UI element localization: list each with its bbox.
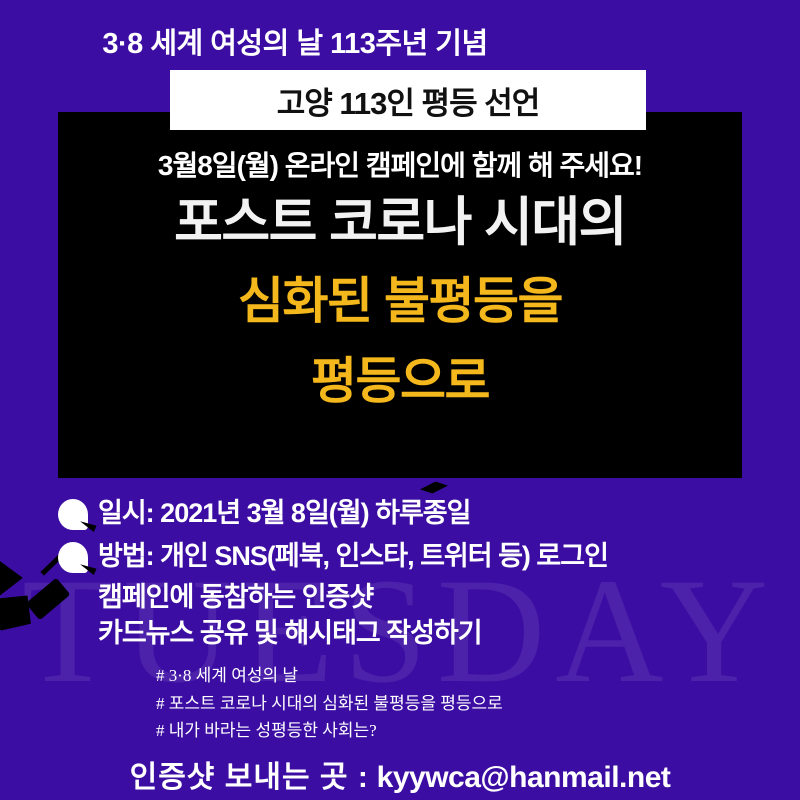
detail-method-subline: 카드뉴스 공유 및 해시태그 작성하기 bbox=[98, 616, 778, 652]
hero-subtitle: 3월8일(월) 온라인 캠페인에 함께 해 주세요! bbox=[58, 144, 742, 184]
detail-datetime-text: 일시: 2021년 3월 8일(월) 하루종일 bbox=[98, 496, 470, 531]
detail-method-subline: 캠페인에 동참하는 인증샷 bbox=[98, 580, 778, 616]
hero-headline-line-3: 평등으로 bbox=[58, 356, 742, 406]
hashtag-list: # 3·8 세계 여성의 날 # 포스트 코로나 시대의 심화된 불평등을 평등… bbox=[156, 662, 503, 745]
submission-footer: 인증샷 보내는 곳 : kyywca@hanmail.net bbox=[0, 752, 800, 796]
anniversary-headline: 3·8 세계 여성의 날 113주년 기념 bbox=[0, 20, 800, 62]
decorative-shard-icon bbox=[0, 590, 36, 637]
detail-method-sublines: 캠페인에 동참하는 인증샷 카드뉴스 공유 및 해시태그 작성하기 bbox=[98, 580, 778, 652]
hashtag-item: # 3·8 세계 여성의 날 bbox=[156, 662, 503, 690]
hero-headline-line-1: 포스트 코로나 시대의 bbox=[58, 196, 742, 249]
decorative-shard-icon bbox=[419, 479, 449, 496]
hero-panel: 3월8일(월) 온라인 캠페인에 함께 해 주세요! 포스트 코로나 시대의 심… bbox=[58, 112, 742, 478]
decorative-shard-icon bbox=[0, 554, 26, 607]
declaration-banner: 고양 113인 평등 선언 bbox=[170, 70, 646, 130]
hashtag-item: # 포스트 코로나 시대의 심화된 불평등을 평등으로 bbox=[156, 690, 503, 718]
detail-row-method: 방법: 개인 SNS(페북, 인스타, 트위터 등) 로그인 bbox=[58, 539, 778, 576]
speech-bubble-icon bbox=[58, 499, 92, 533]
speech-bubble-icon bbox=[58, 542, 92, 576]
detail-row-datetime: 일시: 2021년 3월 8일(월) 하루종일 bbox=[58, 496, 778, 533]
submission-label: 인증샷 보내는 곳 : bbox=[130, 761, 369, 794]
campaign-details: 일시: 2021년 3월 8일(월) 하루종일 방법: 개인 SNS(페북, 인… bbox=[58, 496, 778, 652]
hashtag-item: # 내가 바라는 성평등한 사회는? bbox=[156, 717, 503, 745]
detail-method-text: 방법: 개인 SNS(페북, 인스타, 트위터 등) 로그인 bbox=[98, 539, 608, 574]
declaration-banner-text: 고양 113인 평등 선언 bbox=[277, 78, 540, 123]
hero-headline-line-2: 심화된 불평등을 bbox=[58, 276, 742, 326]
submission-email: kyywca@hanmail.net bbox=[377, 761, 671, 794]
anniversary-headline-text: 3·8 세계 여성의 날 113주년 기념 bbox=[102, 20, 487, 62]
